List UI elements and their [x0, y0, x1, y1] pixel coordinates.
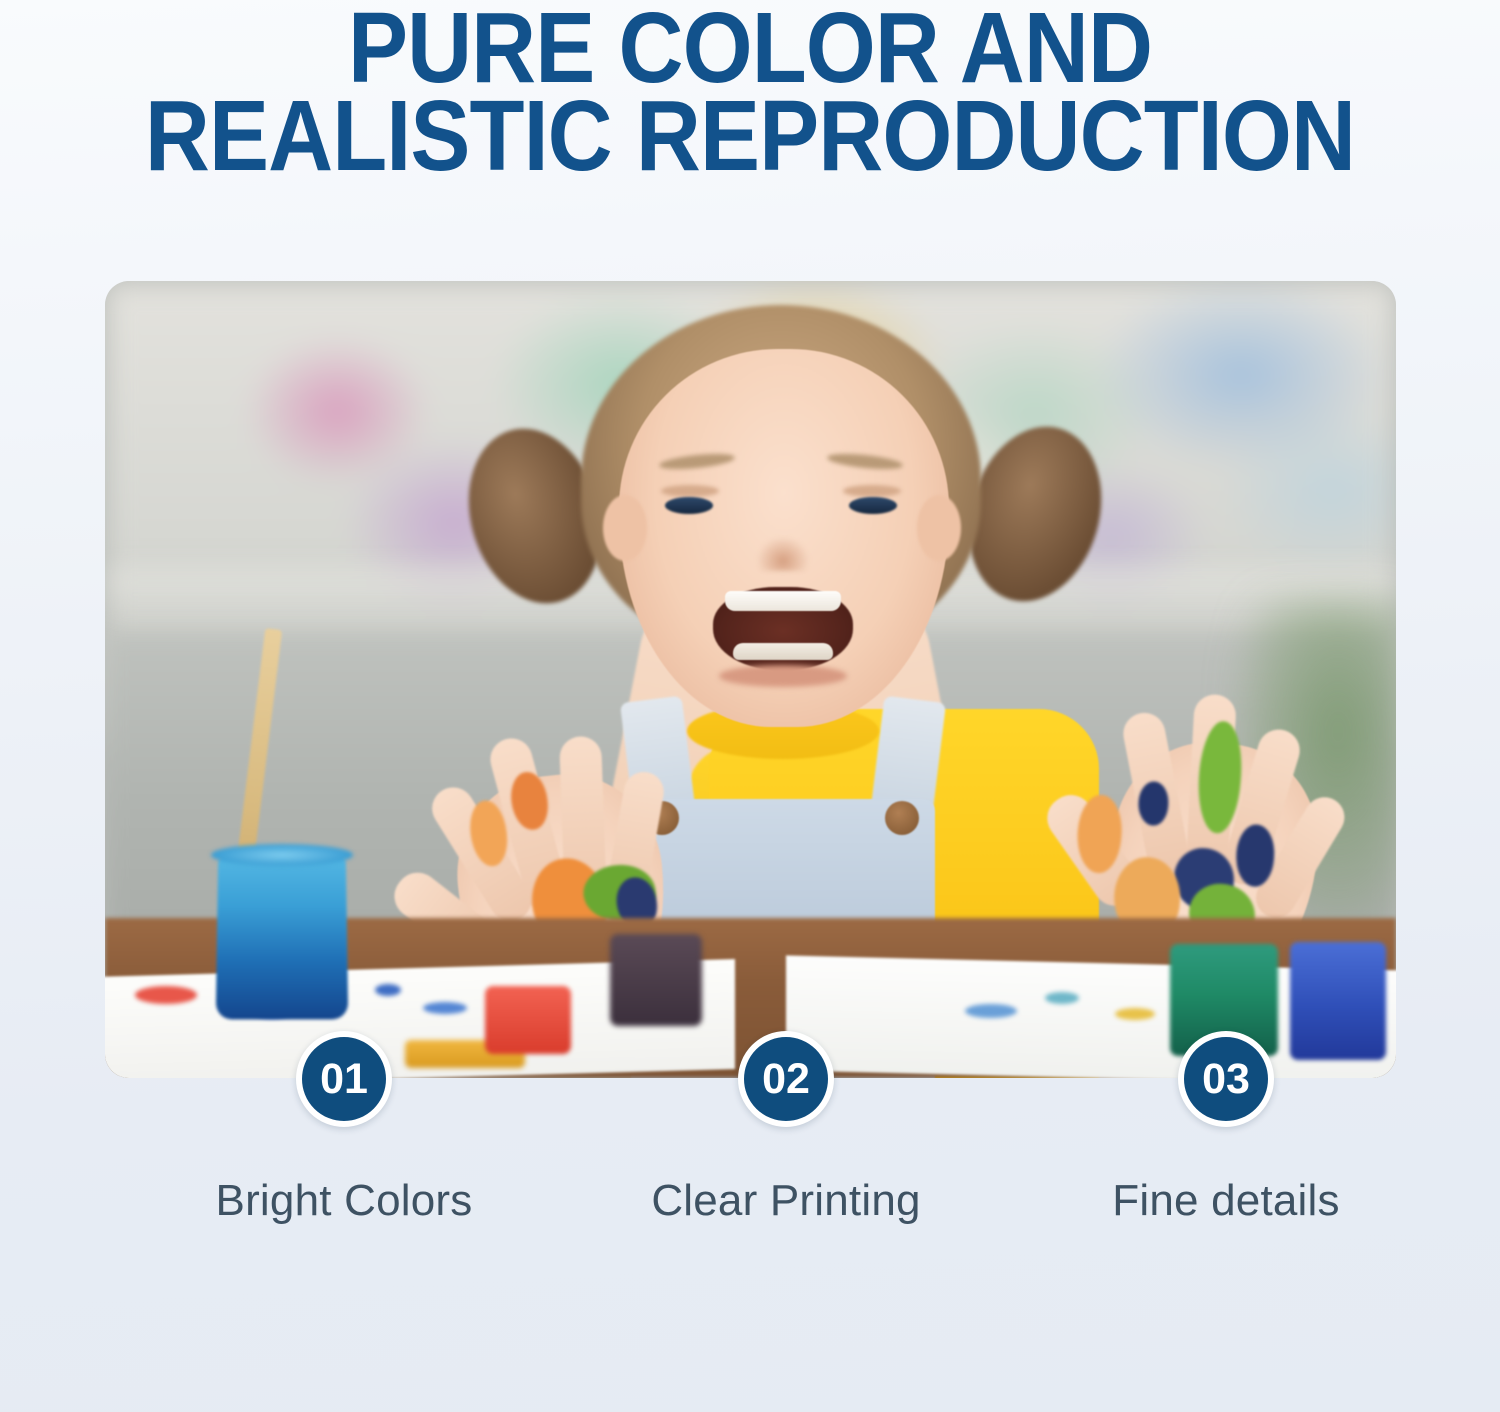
overall-buckle-right [885, 801, 919, 835]
paint-jar-green [1170, 944, 1278, 1056]
feature-label-1: Bright Colors [194, 1176, 494, 1226]
paint-cup-blue [216, 855, 349, 1020]
ear-right [917, 495, 961, 561]
hero-image [105, 281, 1396, 1078]
feature-label-3: Fine details [1076, 1176, 1376, 1226]
paint-jar-dark [610, 934, 702, 1026]
paint-jar-blue [1290, 942, 1386, 1060]
paint-spot-teal [1045, 992, 1079, 1004]
page-title-line-2: REALISTIC REPRODUCTION [75, 92, 1425, 180]
page-title-line-1: PURE COLOR AND [75, 4, 1425, 92]
paint-spot-blue-4 [965, 1004, 1017, 1018]
eyelid-right [843, 485, 901, 497]
paint-spot-yellow [1115, 1008, 1155, 1020]
feature-label-2: Clear Printing [636, 1176, 936, 1226]
paint-cup-blue-rim [211, 844, 353, 866]
eyelid-left [661, 485, 719, 497]
paint-spot-blue-2 [375, 984, 401, 996]
ear-left [603, 495, 647, 561]
paint-spot-blue-3 [423, 1002, 467, 1014]
page-title: PURE COLOR AND REALISTIC REPRODUCTION [75, 0, 1425, 180]
teeth-lower [733, 643, 833, 660]
eye-right [849, 497, 897, 514]
paint-jar-red [485, 986, 571, 1054]
eye-left [665, 497, 713, 514]
nose [757, 537, 809, 571]
lower-lip [719, 665, 847, 687]
paint-spot-red [135, 986, 197, 1004]
teeth-upper [725, 591, 841, 611]
